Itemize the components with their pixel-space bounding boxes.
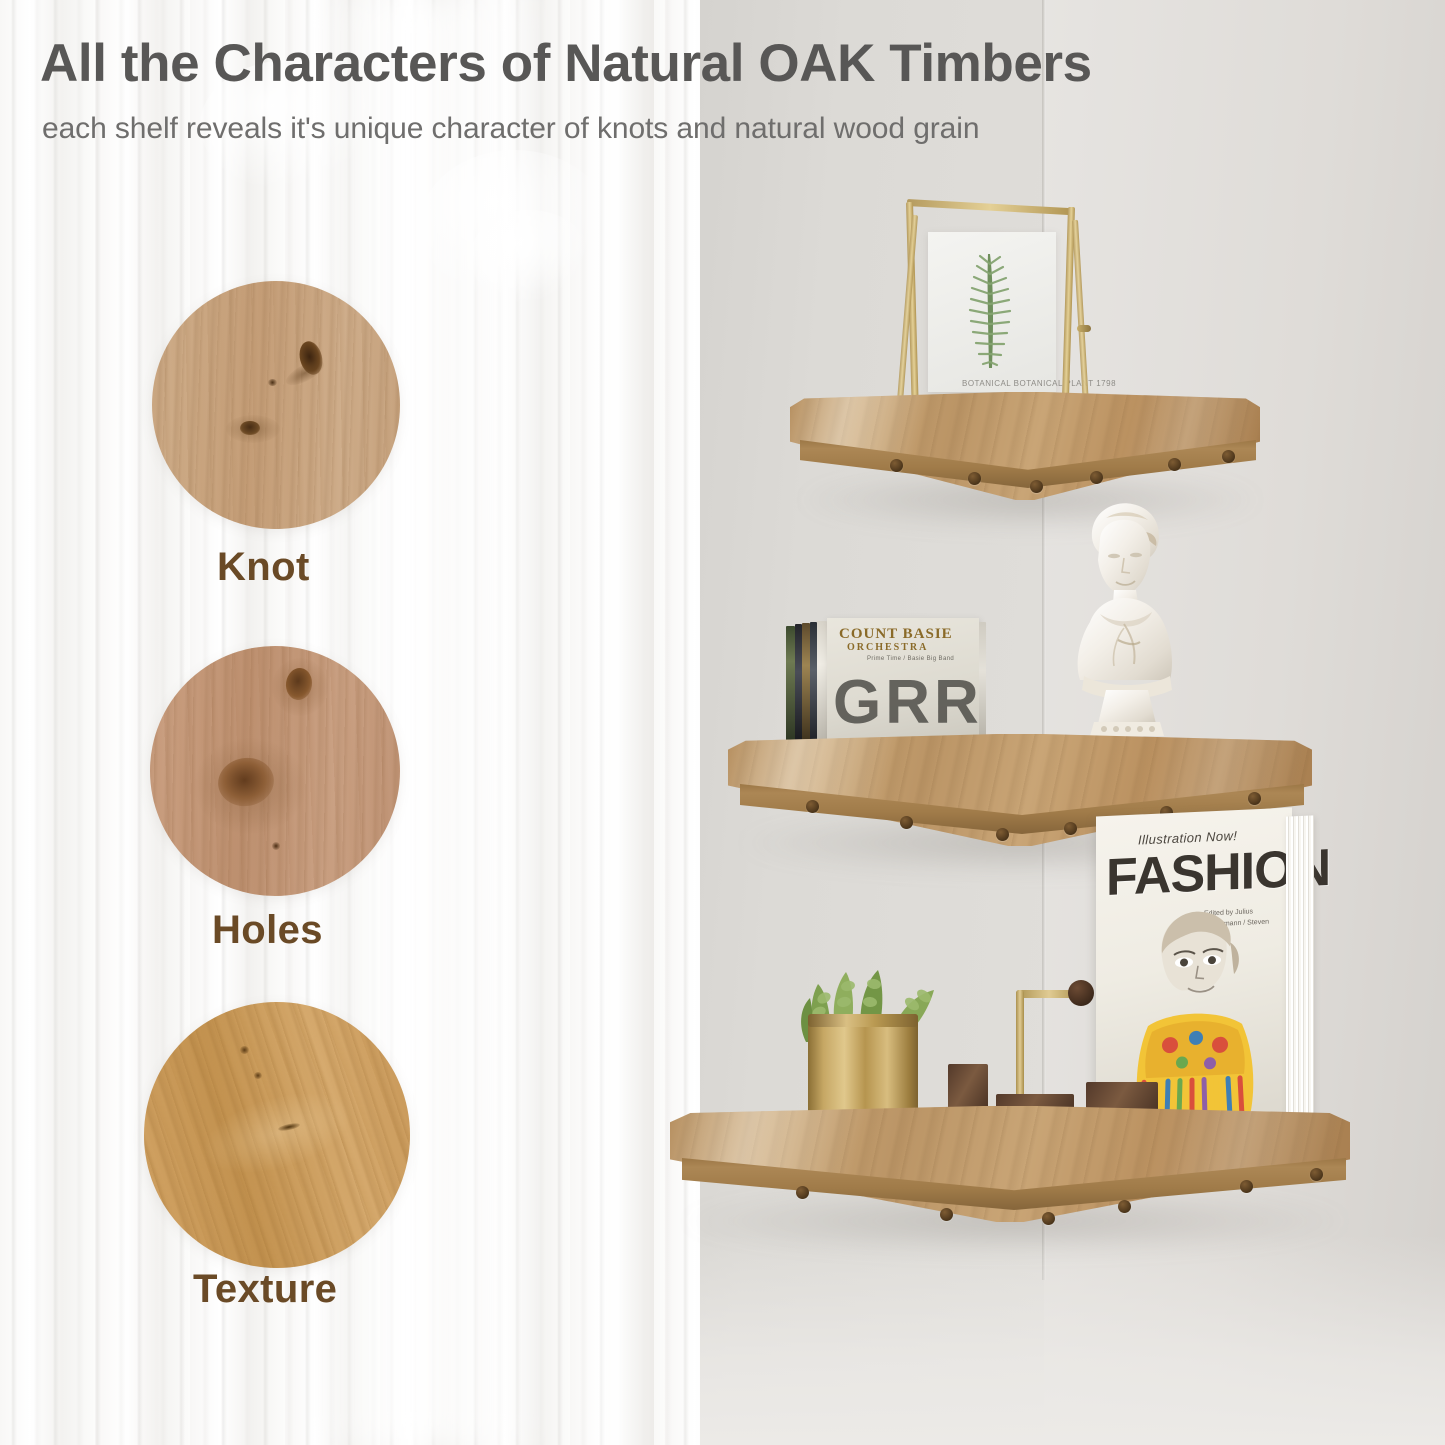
shelf-screw: [1090, 471, 1103, 484]
fashion-book-pages: [1286, 815, 1314, 1122]
fashion-book: Illustration Now! FASHION Edited by Juli…: [1096, 812, 1314, 1124]
fashion-book-cover: Illustration Now! FASHION Edited by Juli…: [1096, 808, 1292, 1129]
frame-hinge-knob: [1077, 325, 1091, 332]
record-title-line3: Prime Time / Basie Big Band: [867, 656, 954, 662]
shelf-screw: [1168, 458, 1181, 471]
page-subtitle: each shelf reveals it's unique character…: [42, 112, 1412, 146]
floor-light-gradient: [640, 1235, 1445, 1445]
artwork-caption: BOTANICAL BOTANICAL PLANT 1798: [962, 379, 1116, 388]
shelf-screw: [1042, 1212, 1055, 1225]
record-sleeve-edge-5: [817, 621, 827, 744]
bookend-arm-vertical: [1016, 990, 1024, 1106]
record-sleeve-edge-4: [810, 622, 817, 744]
record-title-line1: COUNT BASIE: [839, 626, 953, 643]
knot-halo-2: [226, 415, 280, 443]
swatch-texture: [144, 1002, 410, 1268]
texture-pin-mark-1: [240, 1046, 249, 1054]
bookend-knob: [1068, 980, 1094, 1006]
record-cover-big-text: GRR: [833, 666, 975, 740]
bust-sculpture: [1040, 498, 1204, 742]
hole-halo-2: [194, 738, 306, 834]
product-infographic: All the Characters of Natural OAK Timber…: [0, 0, 1445, 1445]
shelf-screw: [1118, 1200, 1131, 1213]
shelf-screw: [796, 1186, 809, 1199]
shelf-screw: [1030, 480, 1043, 493]
shelf-screw: [890, 459, 903, 472]
hole-mark-3: [272, 842, 280, 850]
wood-grain-texture: [152, 281, 400, 529]
brass-pot-rim: [808, 1014, 918, 1027]
swatch-label-holes: Holes: [212, 908, 323, 953]
shelf-screw: [806, 800, 819, 813]
hole-halo-1: [272, 658, 328, 716]
shelf-screw: [968, 472, 981, 485]
record-sleeve-edge-6: [979, 622, 986, 744]
shelf-screw: [1248, 792, 1261, 805]
curtain-edge: [596, 0, 654, 1445]
knot-mark-3: [268, 379, 277, 386]
shelf-screw: [900, 816, 913, 829]
swatch-label-texture: Texture: [193, 1267, 337, 1312]
record-sleeve-front: COUNT BASIE ORCHESTRA Prime Time / Basie…: [827, 618, 979, 746]
texture-pin-mark-2: [254, 1072, 262, 1079]
swatch-knot: [152, 281, 400, 529]
swatch-holes: [150, 646, 400, 896]
shelf-screw: [1310, 1168, 1323, 1181]
shelf-screw: [1064, 822, 1077, 835]
shelf-screw: [996, 828, 1009, 841]
record-sleeve-edge-1: [786, 626, 795, 744]
shelf-screw: [940, 1208, 953, 1221]
bust-sculpture-shape: [1040, 498, 1204, 742]
record-sleeve-edge-3: [802, 623, 810, 744]
shelf-screw: [1222, 450, 1235, 463]
record-sleeve-edge-2: [795, 624, 802, 744]
page-title: All the Characters of Natural OAK Timber…: [40, 36, 1410, 92]
shelf-screw: [1240, 1180, 1253, 1193]
swatch-label-knot: Knot: [217, 545, 310, 590]
record-title-line2: ORCHESTRA: [847, 642, 928, 653]
record-sleeve-group: COUNT BASIE ORCHESTRA Prime Time / Basie…: [786, 618, 986, 746]
fern-leaf-illustration: [940, 248, 1044, 386]
